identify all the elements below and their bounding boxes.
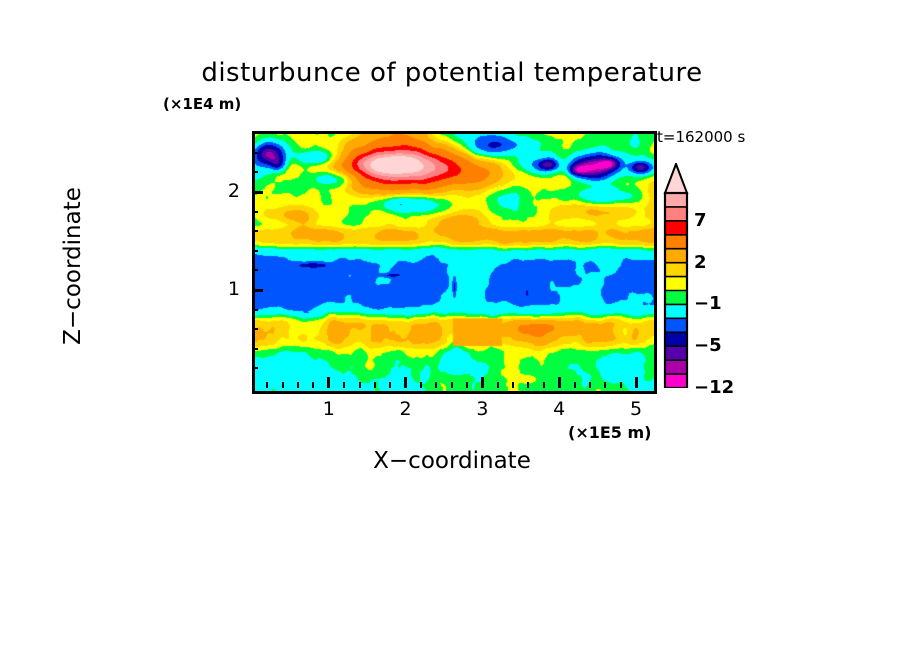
x-tick-label: 4: [544, 398, 574, 420]
colorbar-arrow-tip: [665, 164, 687, 193]
x-axis-minor-tick: [435, 382, 437, 388]
y-axis-minor-tick: [252, 250, 258, 252]
time-annotation: t=162000 s: [657, 128, 745, 146]
y-axis-minor-tick: [252, 211, 258, 213]
colorbar-tick-label: 7: [694, 210, 707, 231]
colorbar-segment: [665, 193, 687, 207]
colorbar-segment: [665, 207, 687, 221]
x-axis-minor-tick: [266, 382, 268, 388]
x-axis-minor-tick: [451, 382, 453, 388]
x-axis-minor-tick: [343, 382, 345, 388]
x-tick-label: 5: [621, 398, 651, 420]
y-tick-label: 1: [210, 278, 240, 300]
colorbar: [663, 163, 689, 388]
colorbar-segment: [665, 263, 687, 277]
x-axis-minor-tick: [527, 382, 529, 388]
colorbar-segment: [665, 277, 687, 291]
colorbar-svg: [663, 163, 689, 388]
x-axis-major-tick: [558, 377, 561, 388]
x-axis-minor-tick: [374, 382, 376, 388]
x-axis-major-tick: [481, 377, 484, 388]
x-axis-minor-tick: [389, 382, 391, 388]
contour-plot-area: [252, 131, 657, 394]
x-axis-minor-tick: [297, 382, 299, 388]
y-axis-minor-tick: [252, 132, 258, 134]
y-axis-minor-tick: [252, 328, 258, 330]
y-axis-minor-tick: [252, 348, 258, 350]
colorbar-segment: [665, 360, 687, 374]
colorbar-segment: [665, 221, 687, 235]
y-axis-major-tick: [252, 289, 263, 292]
x-axis-minor-tick: [604, 382, 606, 388]
y-axis-minor-tick: [252, 309, 258, 311]
colorbar-tick-label: −12: [694, 377, 734, 398]
y-axis-title: Z−coordinate: [60, 136, 86, 396]
page-title: disturbunce of potential temperature: [0, 58, 904, 88]
x-axis-minor-tick: [543, 382, 545, 388]
x-axis-minor-tick: [282, 382, 284, 388]
y-axis-minor-tick: [252, 152, 258, 154]
x-axis-minor-tick: [512, 382, 514, 388]
colorbar-tick-label: −1: [694, 293, 722, 314]
x-axis-title: X−coordinate: [252, 448, 652, 474]
y-tick-label: 2: [210, 180, 240, 202]
colorbar-tick-label: −5: [694, 335, 722, 356]
x-axis-major-tick: [327, 377, 330, 388]
x-axis-minor-tick: [497, 382, 499, 388]
x-axis-minor-tick: [466, 382, 468, 388]
figure-root: disturbunce of potential temperature (×1…: [0, 0, 904, 654]
x-axis-minor-tick: [359, 382, 361, 388]
colorbar-segment: [665, 318, 687, 332]
x-axis-minor-tick: [574, 382, 576, 388]
y-axis-minor-tick: [252, 171, 258, 173]
y-axis-minor-tick: [252, 269, 258, 271]
colorbar-segment: [665, 304, 687, 318]
x-axis-minor-tick: [420, 382, 422, 388]
colorbar-segment: [665, 332, 687, 346]
x-axis-minor-tick: [589, 382, 591, 388]
colorbar-segment: [665, 235, 687, 249]
colorbar-segment: [665, 374, 687, 388]
colorbar-segment: [665, 249, 687, 263]
x-axis-minor-tick: [312, 382, 314, 388]
x-axis-minor-tick: [620, 382, 622, 388]
colorbar-segment: [665, 291, 687, 305]
colorbar-tick-label: 2: [694, 252, 707, 273]
x-tick-label: 2: [391, 398, 421, 420]
x-tick-label: 3: [467, 398, 497, 420]
z-axis-unit-label: (×1E4 m): [163, 95, 241, 113]
colorbar-segment: [665, 346, 687, 360]
x-axis-unit-label: (×1E5 m): [568, 423, 651, 442]
y-axis-major-tick: [252, 191, 263, 194]
heatmap-canvas: [255, 134, 654, 391]
x-axis-major-tick: [404, 377, 407, 388]
y-axis-minor-tick: [252, 230, 258, 232]
x-axis-major-tick: [635, 377, 638, 388]
x-tick-label: 1: [314, 398, 344, 420]
y-axis-minor-tick: [252, 367, 258, 369]
